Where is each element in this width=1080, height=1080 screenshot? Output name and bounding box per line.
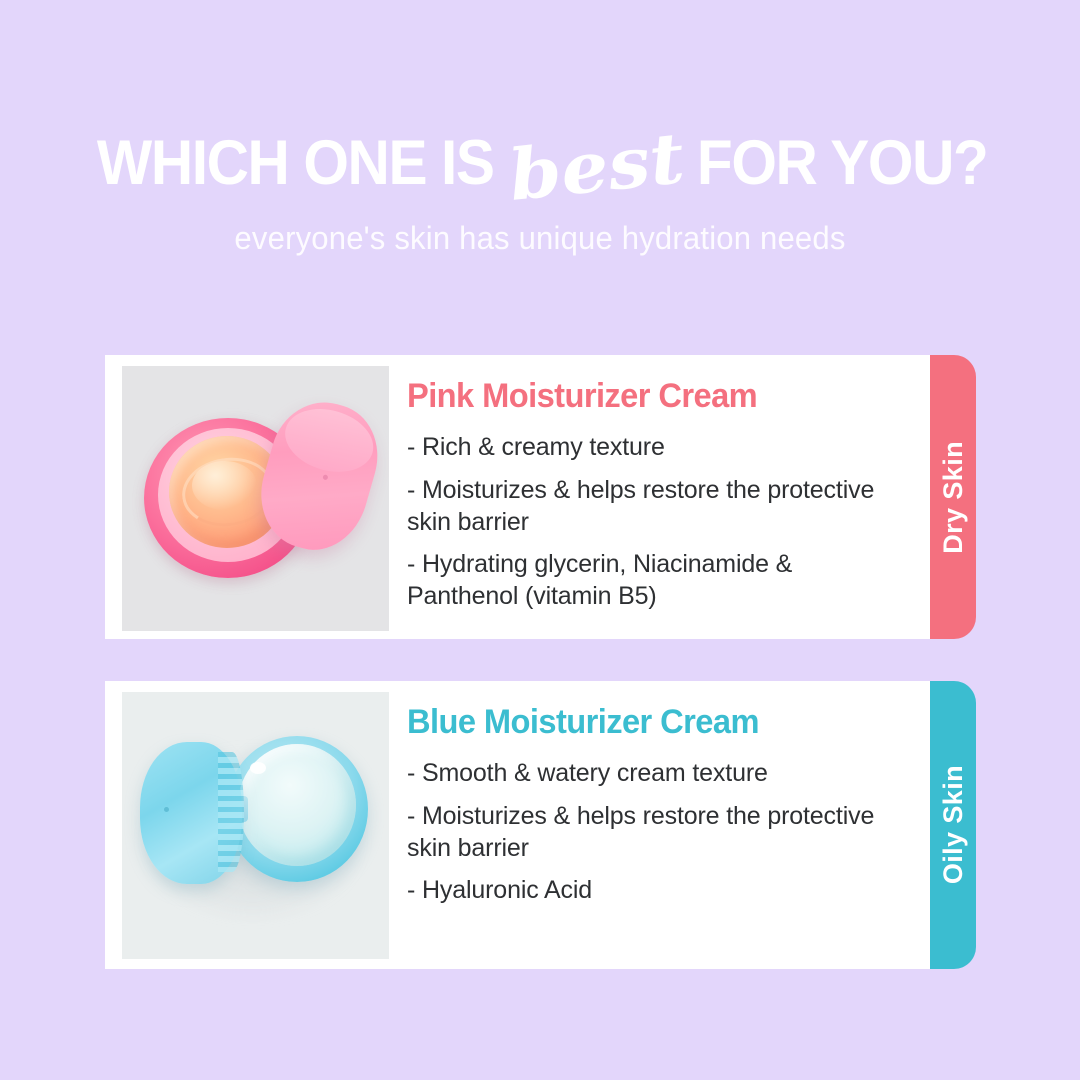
- side-tab-dry-skin[interactable]: Dry Skin: [930, 355, 976, 639]
- bullet-item: - Smooth & watery cream texture: [407, 758, 906, 790]
- pink-lid-dot: [323, 474, 329, 480]
- product-photo-pink: [122, 366, 389, 631]
- product-card-blue[interactable]: Blue Moisturizer Cream - Smooth & watery…: [105, 681, 930, 969]
- side-tab-oily-skin[interactable]: Oily Skin: [930, 681, 976, 969]
- card-content-blue: Blue Moisturizer Cream - Smooth & watery…: [389, 681, 930, 907]
- card-content-pink: Pink Moisturizer Cream - Rich & creamy t…: [389, 355, 930, 613]
- headline: WHICH ONE IS best FOR YOU?: [0, 128, 1080, 198]
- headline-post-text: FOR YOU?: [697, 132, 987, 195]
- card-title-pink: Pink Moisturizer Cream: [407, 377, 886, 416]
- side-tab-label: Dry Skin: [938, 441, 969, 554]
- side-tab-label: Oily Skin: [938, 765, 969, 884]
- product-photo-blue: [122, 692, 389, 959]
- bullet-item: - Moisturizes & helps restore the protec…: [407, 475, 906, 539]
- header: WHICH ONE IS best FOR YOU? everyone's sk…: [0, 128, 1080, 257]
- blue-jar-lid: [140, 742, 242, 884]
- headline-pre-text: WHICH ONE IS: [97, 132, 494, 195]
- bullet-item: - Hydrating glycerin, Niacinamide & Pant…: [407, 549, 906, 613]
- bullet-item: - Rich & creamy texture: [407, 432, 906, 464]
- infographic-canvas: WHICH ONE IS best FOR YOU? everyone's sk…: [0, 0, 1080, 1080]
- pink-lid-top-face: [278, 399, 381, 481]
- product-card-pink[interactable]: Pink Moisturizer Cream - Rich & creamy t…: [105, 355, 930, 639]
- gel-bubble: [250, 762, 266, 774]
- bullet-item: - Moisturizes & helps restore the protec…: [407, 801, 906, 865]
- card-title-blue: Blue Moisturizer Cream: [407, 703, 886, 742]
- blue-lid-dot: [164, 807, 169, 812]
- bullet-item: - Hyaluronic Acid: [407, 875, 906, 907]
- headline-script-word: best: [500, 122, 694, 211]
- subheadline: everyone's skin has unique hydration nee…: [16, 220, 1064, 257]
